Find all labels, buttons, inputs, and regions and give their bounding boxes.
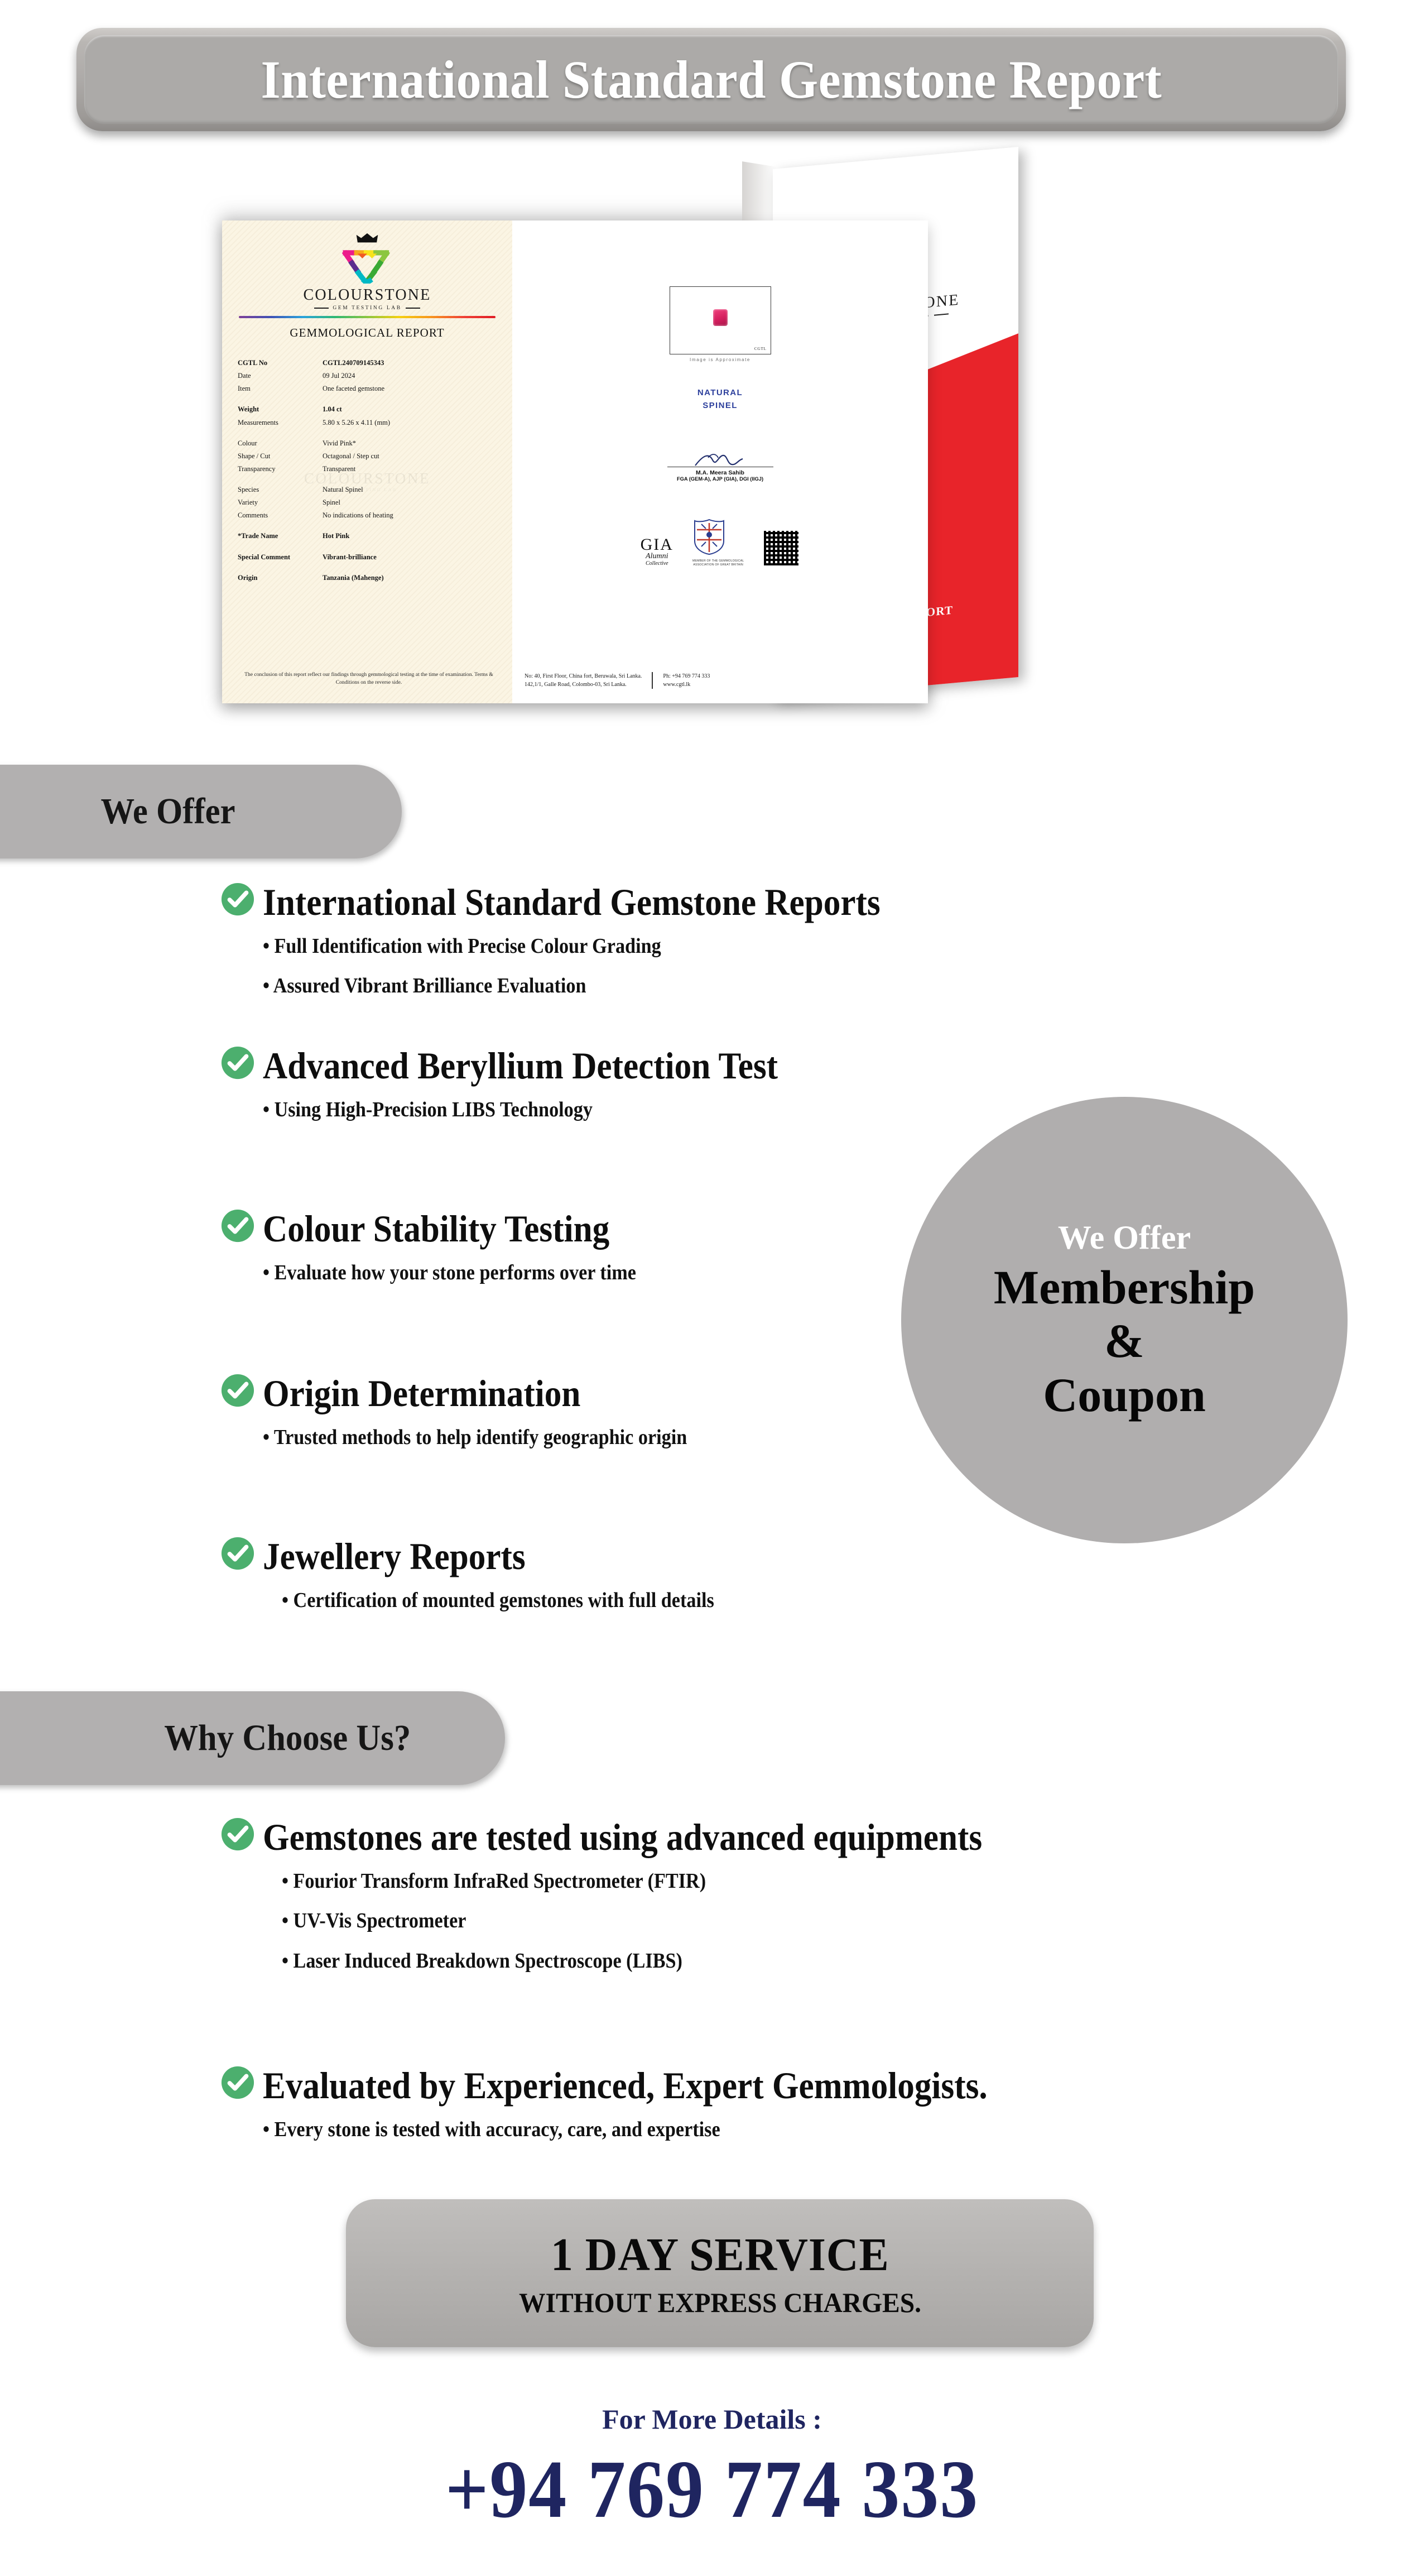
spec-row: OriginTanzania (Mahenge): [238, 572, 497, 584]
spec-value: 5.80 x 5.26 x 4.11 (mm): [323, 416, 497, 429]
offer-title: Advanced Beryllium Detection Test: [263, 1047, 778, 1085]
spec-key: Measurements: [238, 416, 323, 429]
rule-left: [314, 308, 329, 309]
spec-row: SpeciesNatural Spinel: [238, 483, 497, 496]
spec-value: Tanzania (Mahenge): [323, 572, 497, 584]
spec-value: CGTL240709145343: [323, 357, 497, 370]
report-brand-sub: GEM TESTING LAB: [333, 305, 401, 311]
crest-caption-line1: MEMBER OF THE GEMMOLOGICAL: [692, 559, 744, 563]
check-circle-icon: [220, 1045, 255, 1080]
signatory-name: M.A. Meera Sahib: [525, 469, 916, 476]
spec-row: CommentsNo indications of heating: [238, 509, 497, 522]
offer-item-2: Colour Stability Testing • Evaluate how …: [220, 1208, 677, 1287]
why-sub: • Laser Induced Breakdown Spectroscope (…: [282, 1947, 984, 1975]
contact-phone-number[interactable]: +94 769 774 333: [57, 2442, 1367, 2537]
gia-line1: GIA: [641, 537, 673, 553]
spec-row: Shape / CutOctagonal / Step cut: [238, 450, 497, 463]
offer-title: International Standard Gemstone Reports: [263, 883, 881, 921]
rainbow-divider: [239, 316, 495, 318]
spec-row: Date09 Jul 2024: [238, 370, 497, 382]
membership-we-offer-label: We Offer: [1058, 1219, 1191, 1257]
spec-value: Vibrant-brilliance: [323, 551, 497, 564]
offer-item-4: Jewellery Reports • Certification of mou…: [220, 1536, 762, 1615]
check-circle-icon: [220, 1536, 255, 1571]
one-day-service-banner: 1 DAY SERVICE WITHOUT EXPRESS CHARGES.: [346, 2199, 1094, 2347]
address-line-1: No: 40, First Floor, China fort, Beruwal…: [525, 672, 642, 680]
membership-line-1: Membership: [994, 1260, 1255, 1314]
offer-body: Origin Determination • Trusted methods t…: [263, 1373, 734, 1452]
why-sub: • UV-Vis Spectrometer: [282, 1907, 984, 1935]
report-brand-sub-row: GEM TESTING LAB: [238, 305, 497, 311]
why-sub: • Every stone is tested with accuracy, c…: [263, 2116, 988, 2144]
crest-icon: [692, 519, 726, 555]
spec-row: ColourVivid Pink*: [238, 437, 497, 450]
offer-sub: • Evaluate how your stone performs over …: [263, 1259, 636, 1287]
report-logo: COLOURSTONE GEM TESTING LAB: [238, 233, 497, 311]
spec-value: One faceted gemstone: [323, 382, 497, 395]
why-title: Evaluated by Experienced, Expert Gemmolo…: [263, 2066, 988, 2104]
section-header-we-offer: We Offer: [0, 765, 402, 858]
service-banner-sub: WITHOUT EXPRESS CHARGES.: [518, 2286, 921, 2319]
why-sub: • Fourior Transform InfraRed Spectromete…: [282, 1867, 984, 1896]
spec-key: Weight: [238, 403, 323, 416]
contact-phone: Ph: +94 769 774 333: [663, 672, 710, 680]
spec-value: Transparent: [323, 463, 497, 476]
spec-key: Comments: [238, 509, 323, 522]
gem-stone-image: [713, 309, 728, 326]
spec-value: 09 Jul 2024: [323, 370, 497, 382]
membership-line-3: Coupon: [1043, 1368, 1206, 1422]
spec-key: Date: [238, 370, 323, 382]
qr-code: [763, 530, 800, 567]
spec-key: *Trade Name: [238, 530, 323, 543]
why-title: Gemstones are tested using advanced equi…: [263, 1818, 982, 1856]
spec-value: Natural Spinel: [323, 483, 497, 496]
address-block: No: 40, First Floor, China fort, Beruwal…: [525, 672, 642, 689]
rule-right: [406, 308, 420, 309]
spec-value: 1.04 ct: [323, 403, 497, 416]
spec-key: Colour: [238, 437, 323, 450]
spec-key: Transparency: [238, 463, 323, 476]
page-title: International Standard Gemstone Report: [261, 49, 1162, 111]
image-approximate-note: Image is Approximate: [525, 357, 916, 362]
spec-row: TransparencyTransparent: [238, 463, 497, 476]
spec-value: No indications of heating: [323, 509, 497, 522]
service-banner-main: 1 DAY SERVICE: [551, 2228, 889, 2282]
offer-sub: • Trusted methods to help identify geogr…: [263, 1423, 687, 1452]
header-banner-inner: International Standard Gemstone Report: [84, 35, 1338, 124]
report-right-page: CGTL Image is Approximate NATURAL SPINEL…: [512, 220, 928, 703]
crest-caption: MEMBER OF THE GEMMOLOGICAL ASSOCIATION O…: [692, 559, 744, 567]
report-heading: GEMMOLOGICAL REPORT: [238, 326, 497, 340]
spec-row: Weight1.04 ct: [238, 403, 497, 416]
certificate-artwork: CGTL: [195, 142, 1255, 784]
section-header-why-choose-us: Why Choose Us?: [0, 1691, 505, 1785]
diamond-logo-icon: [341, 244, 393, 284]
accreditation-badges: GIA Alumni Collective MEMBER OF THE GEMM…: [525, 519, 916, 567]
spec-table: CGTL NoCGTL240709145343Date09 Jul 2024It…: [238, 357, 497, 584]
offer-title: Colour Stability Testing: [263, 1210, 636, 1248]
report-left-page: COLOURSTONE GEM TESTING LAB GEMMOLOGICAL…: [222, 220, 512, 703]
offer-sub: • Full Identification with Precise Colou…: [263, 932, 881, 961]
offer-body: Advanced Beryllium Detection Test • Usin…: [263, 1045, 835, 1124]
contact-block: Ph: +94 769 774 333 www.cgtl.lk: [663, 672, 710, 689]
gia-line3: Collective: [641, 560, 673, 567]
signature-line: [667, 467, 773, 467]
check-circle-icon: [220, 1373, 255, 1408]
contact-divider: [652, 672, 653, 689]
header-banner: International Standard Gemstone Report: [76, 28, 1346, 131]
gia-line2: Alumni: [641, 553, 673, 560]
address-line-2: 142,1/1, Galle Road, Colombo-03, Sri Lan…: [525, 680, 642, 689]
report-sheet: COLOURSTONE GEM TESTING LAB GEMMOLOGICAL…: [222, 220, 928, 703]
report-disclaimer: The conclusion of this report reflect ou…: [238, 671, 500, 687]
gem-a-crest-badge: MEMBER OF THE GEMMOLOGICAL ASSOCIATION O…: [692, 519, 744, 567]
spec-key: Item: [238, 382, 323, 395]
offer-item-3: Origin Determination • Trusted methods t…: [220, 1373, 734, 1452]
signature-block: M.A. Meera Sahib FGA (GEM-A), AJP (GIA),…: [525, 451, 916, 482]
stone-type-line1: NATURAL: [525, 387, 916, 400]
offer-item-1: Advanced Beryllium Detection Test • Usin…: [220, 1045, 835, 1124]
spec-value: Vivid Pink*: [323, 437, 497, 450]
why-body: Evaluated by Experienced, Expert Gemmolo…: [263, 2065, 1068, 2144]
spec-row: CGTL NoCGTL240709145343: [238, 357, 497, 370]
stone-type-line2: SPINEL: [525, 400, 916, 412]
spec-key: CGTL No: [238, 357, 323, 370]
spec-row: VarietySpinel: [238, 496, 497, 509]
offer-body: Colour Stability Testing • Evaluate how …: [263, 1208, 677, 1287]
spec-row: *Trade NameHot Pink: [238, 530, 497, 543]
offer-title: Jewellery Reports: [263, 1537, 712, 1575]
offer-body: Jewellery Reports • Certification of mou…: [263, 1536, 762, 1615]
offer-sub: • Using High-Precision LIBS Technology: [263, 1096, 778, 1124]
spec-row: Measurements5.80 x 5.26 x 4.11 (mm): [238, 416, 497, 429]
check-circle-icon: [220, 882, 255, 917]
spec-key: Variety: [238, 496, 323, 509]
spec-row: Special CommentVibrant-brilliance: [238, 551, 497, 564]
rule-right: [934, 313, 949, 315]
spec-value: Octagonal / Step cut: [323, 450, 497, 463]
stone-type: NATURAL SPINEL: [525, 387, 916, 412]
why-item-0: Gemstones are tested using advanced equi…: [220, 1817, 1062, 1975]
why-body: Gemstones are tested using advanced equi…: [263, 1817, 1062, 1975]
check-circle-icon: [220, 1208, 255, 1243]
gia-alumni-badge: GIA Alumni Collective: [641, 537, 673, 567]
spec-value: Spinel: [323, 496, 497, 509]
crest-caption-line2: ASSOCIATION OF GREAT BRITAIN: [692, 563, 744, 567]
check-circle-icon: [220, 2065, 255, 2100]
offer-body: International Standard Gemstone Reports …: [263, 882, 949, 1001]
check-circle-icon: [220, 1817, 255, 1851]
offer-sub: • Assured Vibrant Brilliance Evaluation: [263, 972, 881, 1000]
spec-key: Special Comment: [238, 551, 323, 564]
spec-key: Species: [238, 483, 323, 496]
offer-title: Origin Determination: [263, 1374, 687, 1412]
membership-coupon-badge: We Offer Membership & Coupon: [901, 1097, 1348, 1543]
we-offer-pill-label: We Offer: [100, 790, 235, 833]
contact-website: www.cgtl.lk: [663, 680, 710, 689]
membership-line-2: &: [1104, 1314, 1144, 1368]
infographic-page: International Standard Gemstone Report C…: [0, 0, 1424, 2576]
spec-key: Origin: [238, 572, 323, 584]
more-details-label: For More Details :: [0, 2403, 1424, 2435]
contact-footer: No: 40, First Floor, China fort, Beruwal…: [525, 672, 916, 689]
offer-sub: • Certification of mounted gemstones wit…: [282, 1586, 714, 1615]
spec-key: Shape / Cut: [238, 450, 323, 463]
why-item-1: Evaluated by Experienced, Expert Gemmolo…: [220, 2065, 1068, 2144]
report-brand: COLOURSTONE: [238, 286, 497, 304]
spec-value: Hot Pink: [323, 530, 497, 543]
gem-photo-box: CGTL: [670, 286, 771, 354]
why-choose-us-pill-label: Why Choose Us?: [164, 1717, 411, 1759]
gem-box-tag: CGTL: [754, 346, 767, 351]
signatory-qualifications: FGA (GEM-A), AJP (GIA), DGI (IIGJ): [525, 476, 916, 482]
offer-item-0: International Standard Gemstone Reports …: [220, 882, 949, 1001]
spec-row: ItemOne faceted gemstone: [238, 382, 497, 395]
crown-icon: [356, 233, 378, 243]
